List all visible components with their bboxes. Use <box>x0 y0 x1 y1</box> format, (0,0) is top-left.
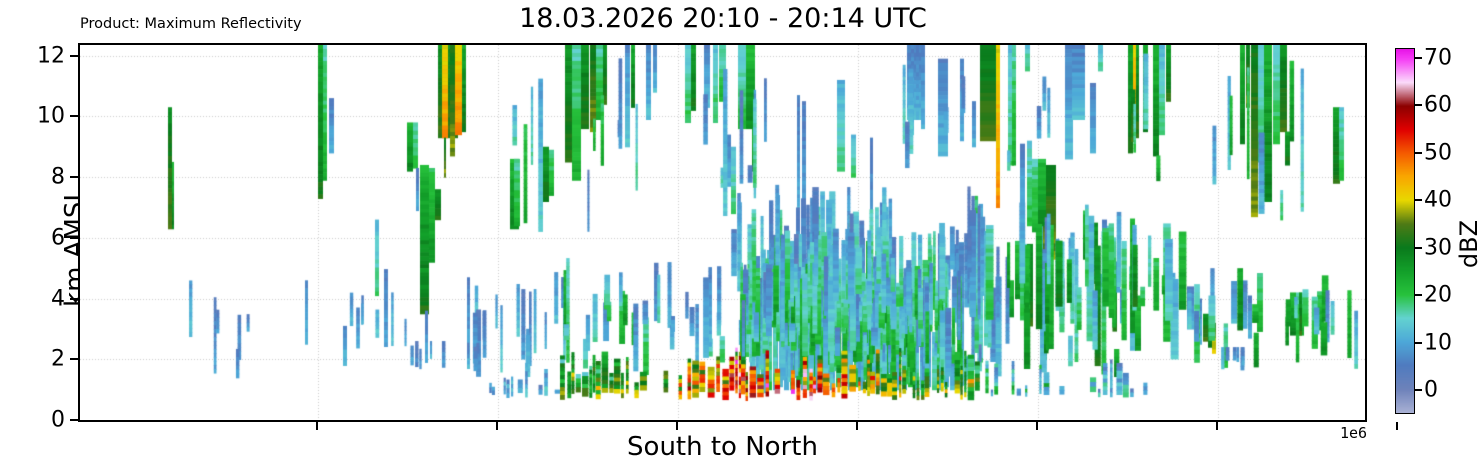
colorbar-tick-label: 60 <box>1424 93 1452 118</box>
y-tick-mark <box>70 358 78 360</box>
x-tick-mark <box>1036 422 1038 430</box>
y-tick-label: 4 <box>51 286 65 311</box>
colorbar-tick-label: 10 <box>1424 330 1452 355</box>
colorbar-tick-label: 50 <box>1424 140 1452 165</box>
colorbar-tick-label: 0 <box>1424 378 1438 403</box>
y-tick-label: 6 <box>51 225 65 250</box>
x-tick-mark <box>316 422 318 430</box>
colorbar-tick-label: 70 <box>1424 45 1452 70</box>
y-tick-mark <box>70 55 78 57</box>
y-tick-mark <box>70 115 78 117</box>
colorbar-tick-mark <box>1415 57 1422 59</box>
colorbar-tick-mark <box>1415 152 1422 154</box>
y-tick-mark <box>70 176 78 178</box>
colorbar-tick-mark <box>1415 294 1422 296</box>
reflectivity-heatmap-canvas <box>80 45 1365 420</box>
colorbar-label: dBZ <box>1455 184 1482 304</box>
y-tick-label: 8 <box>51 165 65 190</box>
colorbar-gradient <box>1396 49 1414 413</box>
plot-area <box>78 43 1367 422</box>
colorbar-tick-mark <box>1415 199 1422 201</box>
colorbar-tick-label: 20 <box>1424 283 1452 308</box>
x-axis-offset-text: 1e6 <box>1340 424 1367 442</box>
colorbar-tick-label: 40 <box>1424 188 1452 213</box>
colorbar-tick-mark <box>1415 389 1422 391</box>
colorbar-tick-label: 30 <box>1424 235 1452 260</box>
y-tick-label: 2 <box>51 347 65 372</box>
y-tick-label: 0 <box>51 408 65 433</box>
y-tick-mark <box>70 237 78 239</box>
colorbar-tick-mark <box>1415 104 1422 106</box>
x-tick-mark <box>1216 422 1218 430</box>
colorbar <box>1395 48 1415 414</box>
y-tick-label: 12 <box>37 43 65 68</box>
colorbar-tick-mark <box>1415 342 1422 344</box>
product-label: Product: Maximum Reflectivity <box>80 16 302 32</box>
x-tick-mark <box>856 422 858 430</box>
x-tick-mark <box>496 422 498 430</box>
radar-cross-section-figure: 18.03.2026 20:10 - 20:14 UTC Product: Ma… <box>0 0 1482 470</box>
x-tick-mark <box>1396 422 1398 430</box>
y-tick-mark <box>70 419 78 421</box>
y-tick-mark <box>70 298 78 300</box>
x-axis-label: South to North <box>78 432 1367 462</box>
colorbar-tick-mark <box>1415 247 1422 249</box>
y-tick-label: 10 <box>37 104 65 129</box>
x-tick-mark <box>676 422 678 430</box>
